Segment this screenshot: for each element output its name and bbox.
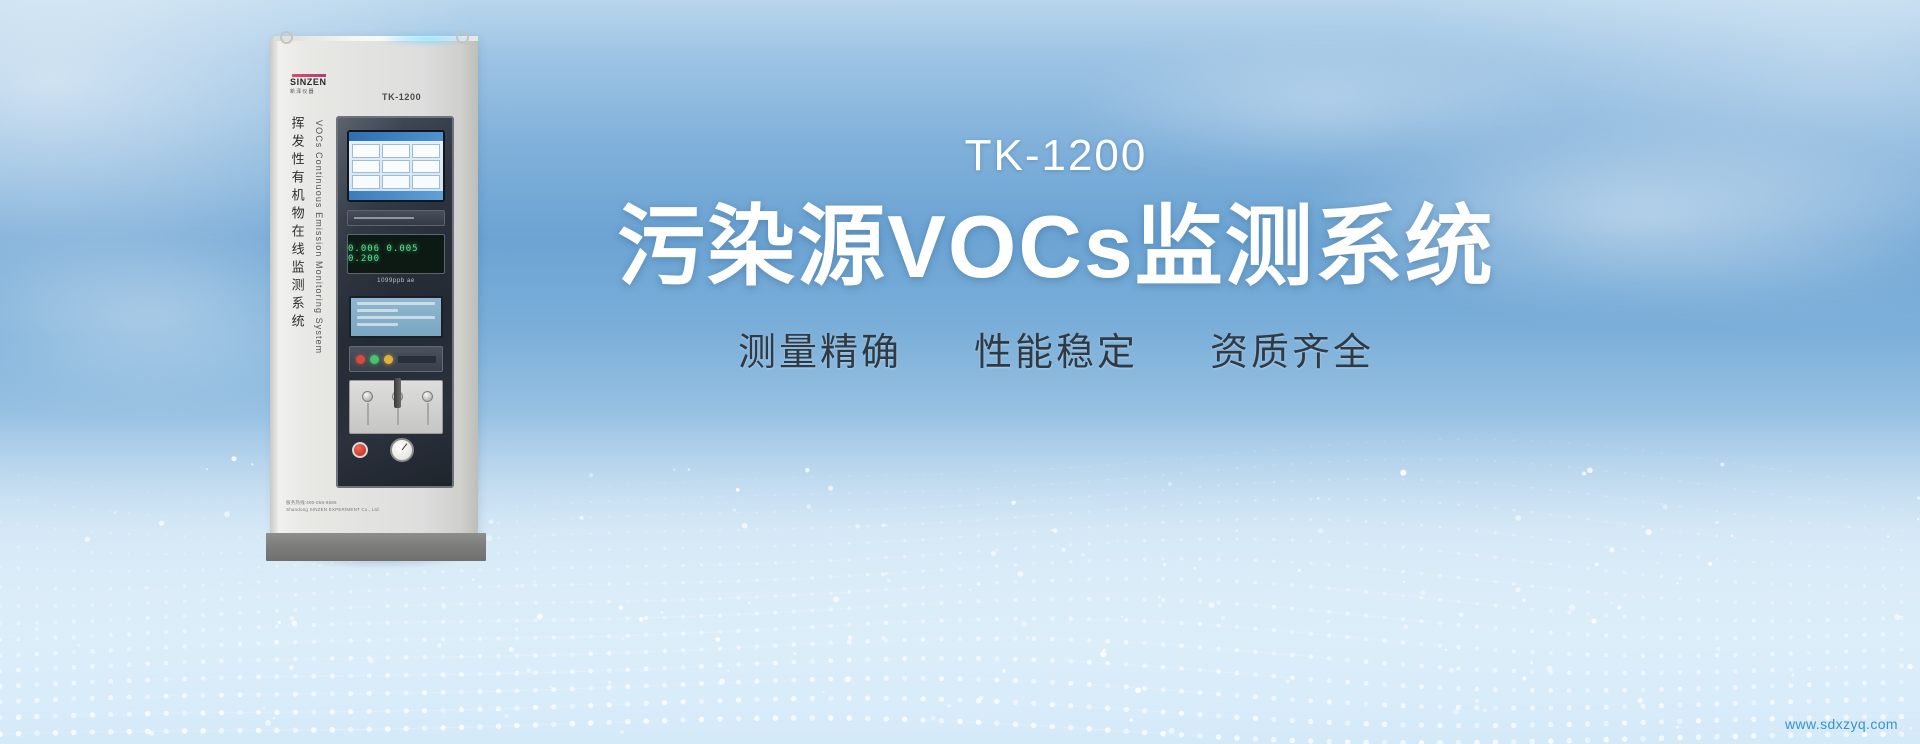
hmi-status-bar — [349, 191, 443, 200]
feature-item-1: 测量精确 — [738, 331, 902, 377]
module-label-line — [354, 217, 414, 219]
lcd-line — [357, 302, 435, 305]
emergency-stop-button-icon — [352, 442, 368, 458]
digital-readout-display: 0.006 0.005 0.200 — [347, 234, 445, 274]
hmi-tile — [412, 144, 440, 158]
feature-item-3: 资质齐全 — [1210, 331, 1374, 377]
banner-headline: 污染源VOCs监测系统 — [556, 198, 1556, 297]
hmi-tile — [412, 160, 440, 174]
readout-subtext: 1099ppb ae — [347, 278, 445, 284]
cabinet-vertical-chinese-label: 挥发性有机物在线监测系统 — [290, 116, 304, 332]
valve-knob-icon — [362, 391, 373, 402]
brand-chinese-text: 新泽仪器 — [290, 88, 352, 95]
hmi-title-bar — [349, 132, 443, 141]
status-led-amber-icon — [384, 355, 393, 364]
status-led-red-icon — [356, 355, 365, 364]
status-led-green-icon — [370, 355, 379, 364]
footer-line-1: 服务热线:400-058-8686 — [286, 500, 446, 507]
hmi-tile — [352, 160, 380, 174]
hmi-tile — [352, 144, 380, 158]
cabinet-door-handle — [394, 378, 401, 408]
banner-model-label: TK-1200 — [556, 132, 1556, 180]
lcd-line — [357, 323, 398, 326]
banner-feature-list: 测量精确 性能稳定 资质齐全 — [556, 331, 1556, 377]
gas-tube — [367, 403, 369, 425]
cabinet-highlight-glint — [367, 33, 487, 45]
indicator-control-row — [349, 346, 443, 372]
hmi-tile — [382, 144, 410, 158]
secondary-lcd-display — [349, 296, 443, 338]
product-cabinet-image: SINZEN 新泽仪器 TK-1200 挥发性有机物在线监测系统 VOCs Co… — [262, 28, 490, 568]
lcd-line — [357, 316, 435, 319]
hmi-tile — [382, 160, 410, 174]
cabinet-left-edge — [270, 38, 278, 538]
cabinet-glass-door: 0.006 0.005 0.200 1099ppb ae — [336, 116, 454, 488]
hmi-tile — [412, 175, 440, 189]
product-banner: SINZEN 新泽仪器 TK-1200 挥发性有机物在线监测系统 VOCs Co… — [0, 0, 1920, 744]
readout-value: 0.006 0.005 0.200 — [348, 244, 444, 264]
hmi-tile — [382, 175, 410, 189]
control-slot — [398, 356, 436, 363]
gas-tube — [427, 403, 429, 425]
cabinet-footer-label: 服务热线:400-058-8686 Shandong SINZEN EXPERI… — [286, 500, 446, 514]
site-watermark: www.sdxzyq.com — [1785, 716, 1898, 732]
hmi-tile — [352, 175, 380, 189]
banner-text-block: TK-1200 污染源VOCs监测系统 测量精确 性能稳定 资质齐全 — [556, 132, 1556, 377]
cabinet-model-plate: TK-1200 — [382, 92, 421, 102]
cabinet-brand-logo: SINZEN 新泽仪器 — [290, 74, 352, 95]
hmi-tile-grid — [352, 144, 440, 189]
feature-item-2: 性能稳定 — [974, 331, 1138, 377]
footer-line-2: Shandong SINZEN EXPERIMENT Co., Ltd. — [286, 507, 446, 514]
lifting-ring-icon — [456, 31, 469, 44]
cabinet-vertical-english-label: VOCs Continuous Emission Monitoring Syst… — [314, 120, 324, 354]
lcd-line — [357, 309, 398, 312]
analyzer-module-strip — [347, 210, 445, 226]
hmi-touch-panel — [347, 130, 445, 202]
valve-knob-icon — [422, 391, 433, 402]
cabinet-base-plinth — [266, 533, 486, 561]
gauge-needle — [402, 443, 408, 450]
pressure-gauge-icon — [390, 438, 414, 462]
lifting-ring-icon — [280, 31, 293, 44]
brand-name-text: SINZEN — [290, 78, 352, 87]
